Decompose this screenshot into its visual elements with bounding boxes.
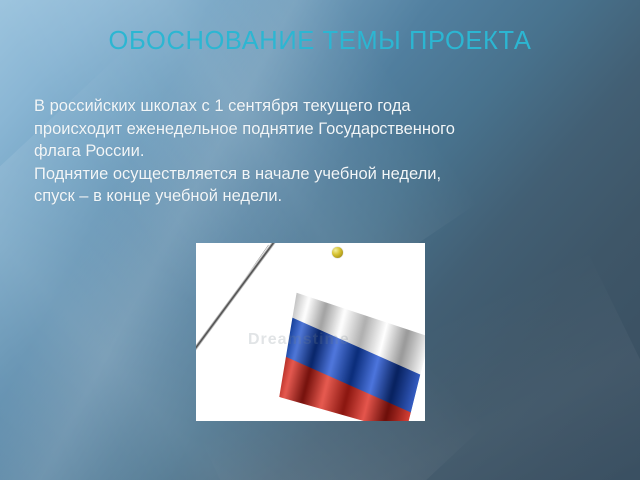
russian-flag-image: Dreamstime [196,243,425,421]
slide-title: ОБОСНОВАНИЕ ТЕМЫ ПРОЕКТА [0,27,640,56]
body-line-1: В российских школах с 1 сентября текущег… [34,95,609,118]
body-line-3: флага России. [34,140,609,163]
flagpole-finial-icon [332,247,343,258]
russian-tricolour-flag [271,279,425,421]
body-line-4: Поднятие осуществляется в начале учебной… [34,163,609,186]
photo-canvas: Dreamstime [196,243,425,421]
body-line-2: происходит еженедельное поднятие Государ… [34,118,609,141]
body-line-5: спуск – в конце учебной недели. [34,185,609,208]
flagpole [196,243,278,421]
slide-body-text: В российских школах с 1 сентября текущег… [34,95,609,208]
presentation-slide: ОБОСНОВАНИЕ ТЕМЫ ПРОЕКТА В российских шк… [0,0,640,480]
